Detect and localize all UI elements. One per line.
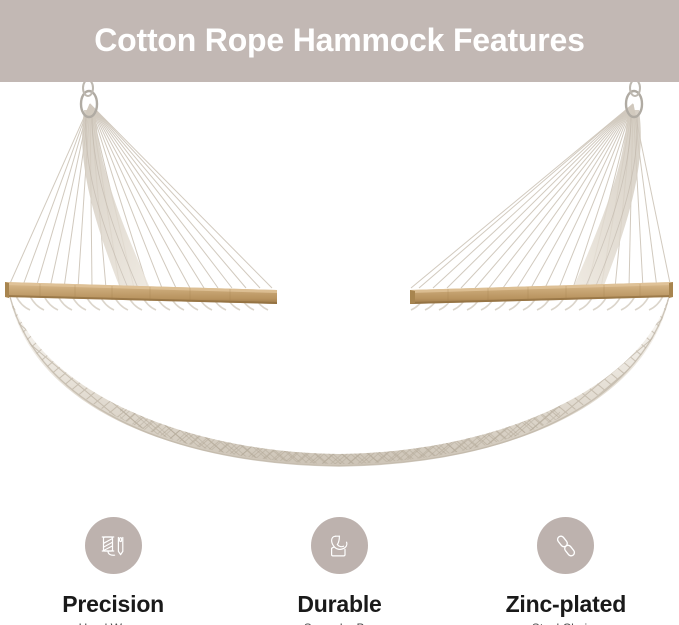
feature-item-durable: Durable Spreader Bar [226,500,452,625]
hammock-bed [0,272,679,482]
hammock-product-image: Cotton rope hammock with wooden spreader… [0,82,679,482]
hammock-mesh-texture [0,272,679,482]
chain-link-icon [551,531,581,561]
feature-title: Precision [62,592,164,616]
feature-icon-circle-durable [311,517,368,574]
feature-icon-circle-precision [85,517,142,574]
feature-icon-circle-zinc-plated [537,517,594,574]
feature-title: Durable [297,592,381,616]
hammock-illustration: Cotton rope hammock with wooden spreader… [0,82,679,482]
product-feature-page: Cotton Rope Hammock Features Cotton rope… [0,0,679,625]
left-suspension-ropes [8,104,272,288]
feature-item-precision: Precision Hand Woven [0,500,226,625]
feature-item-zinc-plated: Zinc-plated Steel Chains [453,500,679,625]
flexed-bicep-icon [324,531,354,561]
feature-title: Zinc-plated [506,592,626,616]
thread-spool-needle-icon [98,531,128,561]
page-title: Cotton Rope Hammock Features [94,24,584,58]
features-row: Precision Hand Woven [0,500,679,625]
header-banner: Cotton Rope Hammock Features [0,0,679,82]
